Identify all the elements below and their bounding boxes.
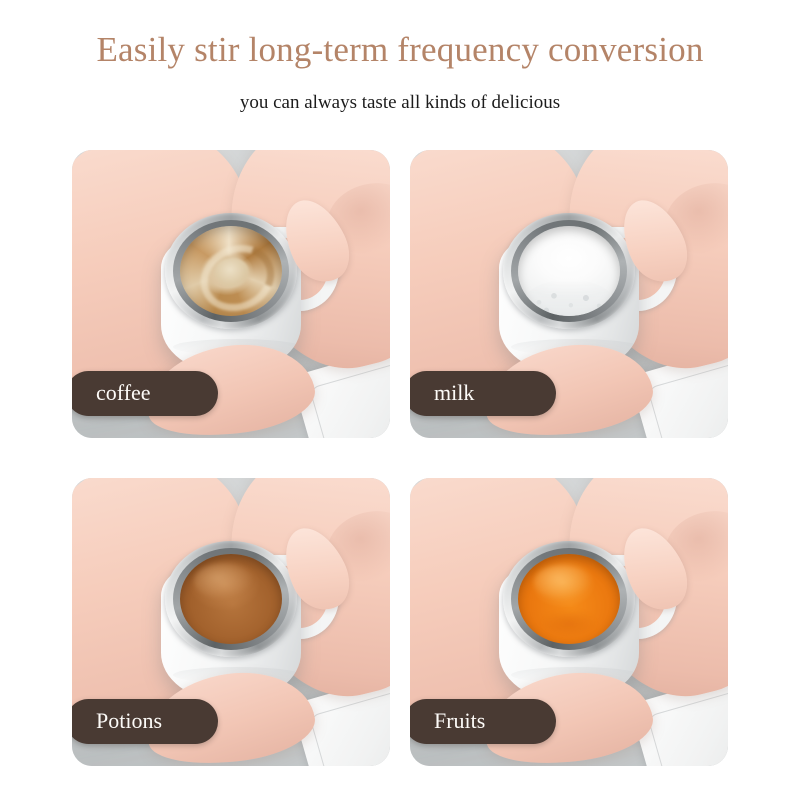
page-title: Easily stir long-term frequency conversi… <box>0 28 800 72</box>
card-caption: coffee <box>72 371 218 416</box>
header: Easily stir long-term frequency conversi… <box>0 0 800 116</box>
gallery-card-milk[interactable]: milk <box>410 150 728 438</box>
liquid-surface-fruits <box>518 554 620 644</box>
gallery-card-potions[interactable]: Potions <box>72 478 390 766</box>
liquid-surface-coffee <box>180 226 282 316</box>
gallery-card-coffee[interactable]: coffee <box>72 150 390 438</box>
gallery-card-fruits[interactable]: Fruits <box>410 478 728 766</box>
card-caption: Fruits <box>410 699 556 744</box>
card-caption: Potions <box>72 699 218 744</box>
liquid-surface-milk <box>518 226 620 316</box>
liquid-surface-potions <box>180 554 282 644</box>
card-caption: milk <box>410 371 556 416</box>
product-gallery-grid: coffee milk <box>72 150 728 766</box>
page-subtitle: you can always taste all kinds of delici… <box>0 90 800 116</box>
